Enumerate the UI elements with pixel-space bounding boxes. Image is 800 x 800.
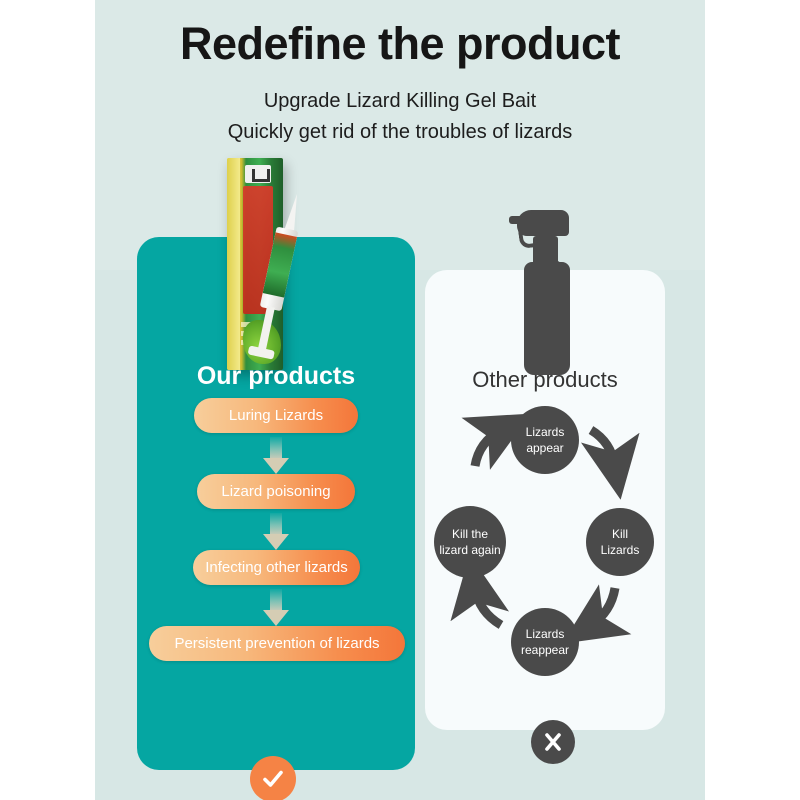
cycle-node-kill-the-lizard-again: Kill the lizard again — [434, 506, 506, 578]
check-icon — [260, 766, 286, 792]
flow-step-persistent-prevention: Persistent prevention of lizards — [149, 626, 405, 661]
syringe-thumb-rest — [248, 345, 275, 359]
flow-arrow-down-icon — [263, 437, 289, 474]
cycle-arrow-right-to-bottom — [591, 588, 615, 625]
product-photo — [213, 150, 373, 380]
page-title: Redefine the product — [0, 18, 800, 70]
flow-step-luring-lizards: Luring Lizards — [194, 398, 358, 433]
cycle-arrow-bottom-to-left — [475, 588, 501, 625]
syringe-plunger — [257, 306, 274, 353]
x-badge — [531, 720, 575, 764]
box-side-strip — [227, 158, 240, 370]
cycle-node-kill-lizards: Kill Lizards — [586, 508, 654, 576]
flow-arrow-down-icon — [263, 513, 289, 550]
cycle-arrow-left-to-top — [475, 430, 501, 466]
syringe-barrel — [260, 227, 299, 312]
subtitle-line-2: Quickly get rid of the troubles of lizar… — [0, 121, 800, 144]
cycle-node-lizards-reappear: Lizards reappear — [511, 608, 579, 676]
subtitle-line-1: Upgrade Lizard Killing Gel Bait — [0, 90, 800, 113]
cycle-node-label-line-2: appear — [526, 440, 563, 456]
our-products-heading: Our products — [137, 362, 415, 391]
arrow-shaft — [270, 437, 282, 459]
cycle-node-label-line-1: Kill the — [452, 526, 488, 542]
infographic-page: Redefine the product Upgrade Lizard Kill… — [0, 0, 800, 800]
arrow-head — [263, 534, 289, 550]
spray-bottle-nozzle — [509, 216, 525, 224]
cycle-node-label-line-2: lizard again — [439, 542, 500, 558]
flow-step-infecting-other-lizards: Infecting other lizards — [193, 550, 360, 585]
cycle-arrow-top-to-right — [591, 430, 615, 466]
arrow-head — [263, 458, 289, 474]
flow-arrow-down-icon — [263, 589, 289, 626]
cycle-node-label-line-2: Lizards — [601, 542, 640, 558]
spray-bottle-icon — [500, 200, 590, 375]
cycle-node-label-line-1: Kill — [612, 526, 628, 542]
close-x-icon — [541, 730, 565, 754]
cycle-node-label-line-1: Lizards — [526, 424, 565, 440]
check-badge — [250, 756, 296, 800]
syringe-label — [263, 232, 297, 297]
spray-bottle-trigger — [518, 225, 539, 249]
flow-step-lizard-poisoning: Lizard poisoning — [197, 474, 355, 509]
box-brand-logo — [245, 165, 271, 183]
cycle-node-lizards-appear: Lizards appear — [511, 406, 579, 474]
arrow-shaft — [270, 513, 282, 535]
cycle-node-label-line-1: Lizards — [526, 626, 565, 642]
cycle-node-label-line-2: reappear — [521, 642, 569, 658]
arrow-head — [263, 610, 289, 626]
syringe-tip — [284, 193, 302, 232]
arrow-shaft — [270, 589, 282, 611]
